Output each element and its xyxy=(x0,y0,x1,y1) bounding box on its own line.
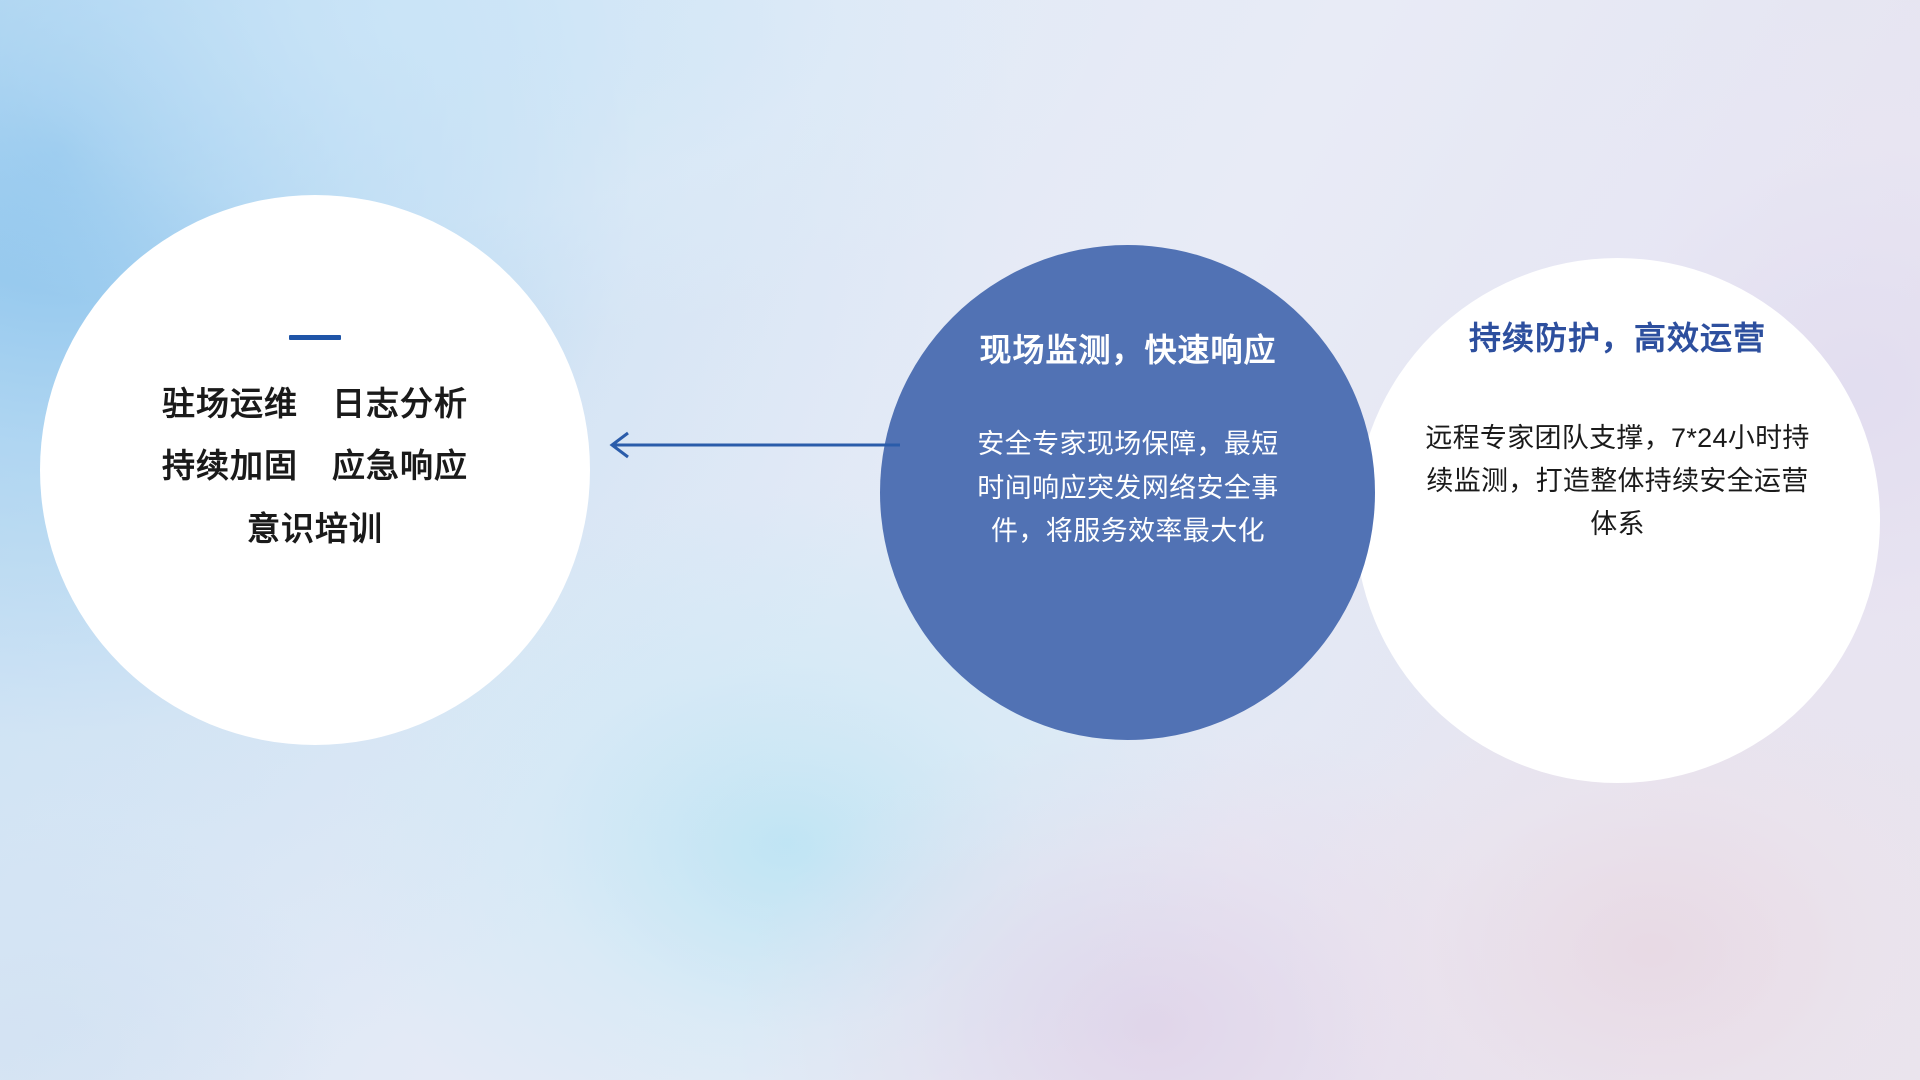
capability-row: 持续加固应急响应 xyxy=(162,448,468,484)
capability-list: 驻场运维日志分析 持续加固应急响应 意识培训 xyxy=(162,386,468,547)
capability-item: 应急响应 xyxy=(332,447,468,484)
left-arrow-icon xyxy=(600,420,900,470)
middle-circle-content: 现场监测，快速响应 安全专家现场保障，最短时间响应突发网络安全事件，将服务效率最… xyxy=(898,245,1358,740)
middle-circle-body: 安全专家现场保障，最短时间响应突发网络安全事件，将服务效率最大化 xyxy=(971,423,1286,554)
left-circle-content: 驻场运维日志分析 持续加固应急响应 意识培训 xyxy=(40,195,590,745)
slide-canvas: 驻场运维日志分析 持续加固应急响应 意识培训 现场监测，快速响应 安全专家现场保… xyxy=(0,0,1920,1080)
capability-row: 意识培训 xyxy=(247,511,383,547)
capability-item: 意识培训 xyxy=(247,510,383,547)
right-circle-title: 持续防护，高效运营 xyxy=(1469,313,1766,359)
right-circle-body: 远程专家团队支撑，7*24小时持续监测，打造整体持续安全运营体系 xyxy=(1418,417,1818,547)
capability-item: 驻场运维 xyxy=(162,385,298,422)
middle-circle-title: 现场监测，快速响应 xyxy=(979,325,1276,371)
right-circle-content: 持续防护，高效运营 远程专家团队支撑，7*24小时持续监测，打造整体持续安全运营… xyxy=(1355,258,1880,783)
flow-arrow xyxy=(600,420,900,470)
capability-item: 持续加固 xyxy=(162,447,298,484)
capability-row: 驻场运维日志分析 xyxy=(162,386,468,422)
accent-dash-divider xyxy=(289,335,341,340)
capability-item: 日志分析 xyxy=(332,385,468,422)
